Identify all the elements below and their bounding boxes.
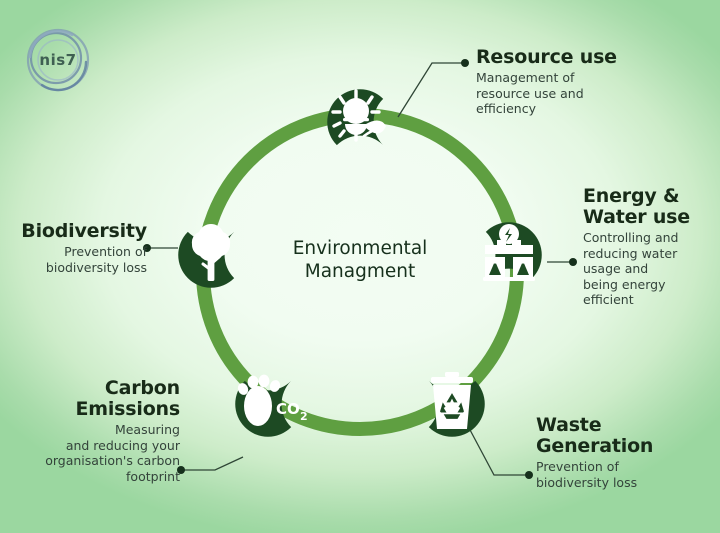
recycle-bin-icon xyxy=(431,372,473,429)
callout-carbon-emissions[interactable]: Carbon Emissions Measuring and reducing … xyxy=(12,378,180,484)
svg-text:2: 2 xyxy=(300,410,308,423)
callout-description: Controlling and reducing water usage and… xyxy=(583,230,718,308)
center-title: Environmental Managment xyxy=(250,237,470,283)
callout-description: Prevention of biodiversity loss xyxy=(536,459,716,490)
callout-description: Measuring and reducing your organisation… xyxy=(12,422,180,484)
callout-title: Carbon Emissions xyxy=(12,378,180,420)
callout-resource-use[interactable]: Resource use Management of resource use … xyxy=(476,47,686,117)
callout-title: Waste Generation xyxy=(536,415,716,457)
leaf-shape xyxy=(463,209,556,302)
callout-title: Energy & Water use xyxy=(583,186,718,228)
svg-text:CO: CO xyxy=(276,400,300,418)
infographic-canvas: nis7 xyxy=(0,0,720,533)
callout-energy-water-use[interactable]: Energy & Water use Controlling and reduc… xyxy=(583,186,718,308)
callout-title: Biodiversity xyxy=(12,221,147,242)
callout-biodiversity[interactable]: Biodiversity Prevention of biodiversity … xyxy=(12,221,147,275)
node-energy-water-use[interactable] xyxy=(463,209,556,302)
callout-waste-generation[interactable]: Waste Generation Prevention of biodivers… xyxy=(536,415,716,490)
callout-description: Prevention of biodiversity loss xyxy=(12,244,147,275)
callout-description: Management of resource use and efficienc… xyxy=(476,70,686,117)
callout-title: Resource use xyxy=(476,47,686,68)
